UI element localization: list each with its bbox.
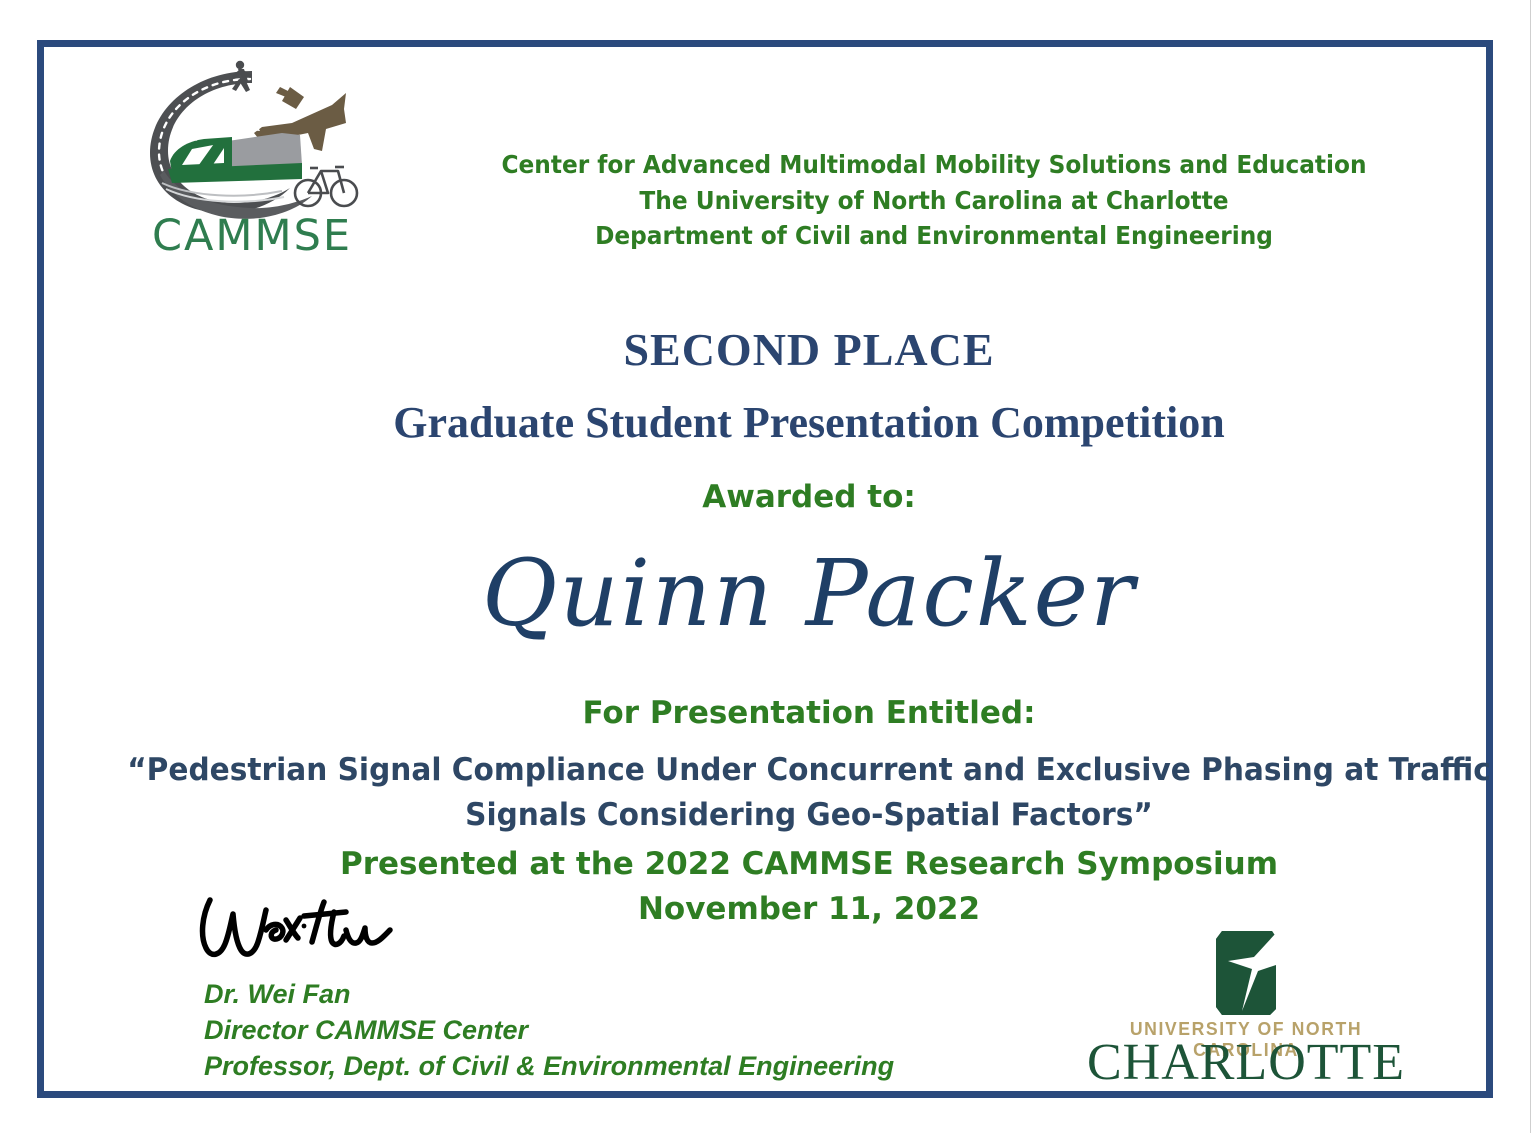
handwritten-signature-icon [194,890,404,965]
recipient-name: Quinn Packer [81,543,1536,644]
header-line-center: Center for Advanced Multimodal Mobility … [441,147,1427,183]
awarded-to-label: Awarded to: [81,479,1536,515]
uncc-crown-c-icon [1076,927,1416,1019]
cammse-logo: CAMMSE [132,57,372,272]
header-line-department: Department of Civil and Environmental En… [441,218,1427,254]
uncc-logo: UNIVERSITY OF NORTH CAROLINA CHARLOTTE [1076,927,1416,1087]
for-presentation-label: For Presentation Entitled: [81,695,1536,731]
cammse-logo-mark [132,57,372,225]
signatory-name: Dr. Wei Fan [204,977,1024,1013]
certificate-border-frame: CAMMSE Center for Advanced Multimodal Mo… [37,40,1493,1098]
cammse-wordmark: CAMMSE [132,215,372,258]
light-rail-train-icon [162,126,302,201]
header-line-university: The University of North Carolina at Char… [441,183,1427,219]
award-competition-title: Graduate Student Presentation Competitio… [81,397,1536,448]
signatory-title: Professor, Dept. of Civil & Environmenta… [204,1049,1024,1085]
signatory-role: Director CAMMSE Center [204,1013,1024,1049]
signatory-block: Dr. Wei Fan Director CAMMSE Center Profe… [204,977,1024,1085]
event-line-symposium: Presented at the 2022 CAMMSE Research Sy… [81,842,1536,887]
institution-header: Center for Advanced Multimodal Mobility … [404,147,1464,254]
certificate-page: CAMMSE Center for Advanced Multimodal Mo… [0,0,1536,1133]
pedestrian-icon [232,61,252,92]
award-rank-title: SECOND PLACE [81,323,1536,376]
uncc-logo-name: CHARLOTTE [1076,1037,1416,1089]
presentation-title: “Pedestrian Signal Compliance Under Conc… [123,748,1494,839]
